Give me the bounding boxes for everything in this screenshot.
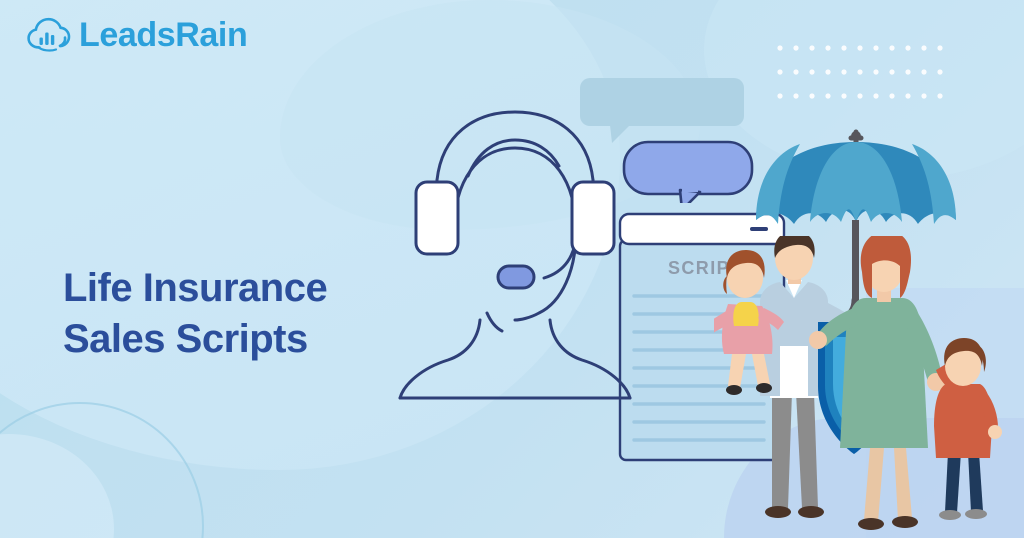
- hero-illustration: SCRIPTS: [0, 0, 1024, 538]
- microphone-piece: [498, 266, 534, 288]
- headphone-earcup-left: [416, 182, 458, 254]
- speech-bubble-small: [624, 142, 752, 203]
- child-figure: [934, 338, 1002, 520]
- headset-agent-illustration: [392, 108, 638, 400]
- family-illustration: [714, 236, 1024, 538]
- banner-hero: LeadsRain Life Insurance Sales Scripts S…: [0, 0, 1024, 538]
- headphone-earcup-right: [572, 182, 614, 254]
